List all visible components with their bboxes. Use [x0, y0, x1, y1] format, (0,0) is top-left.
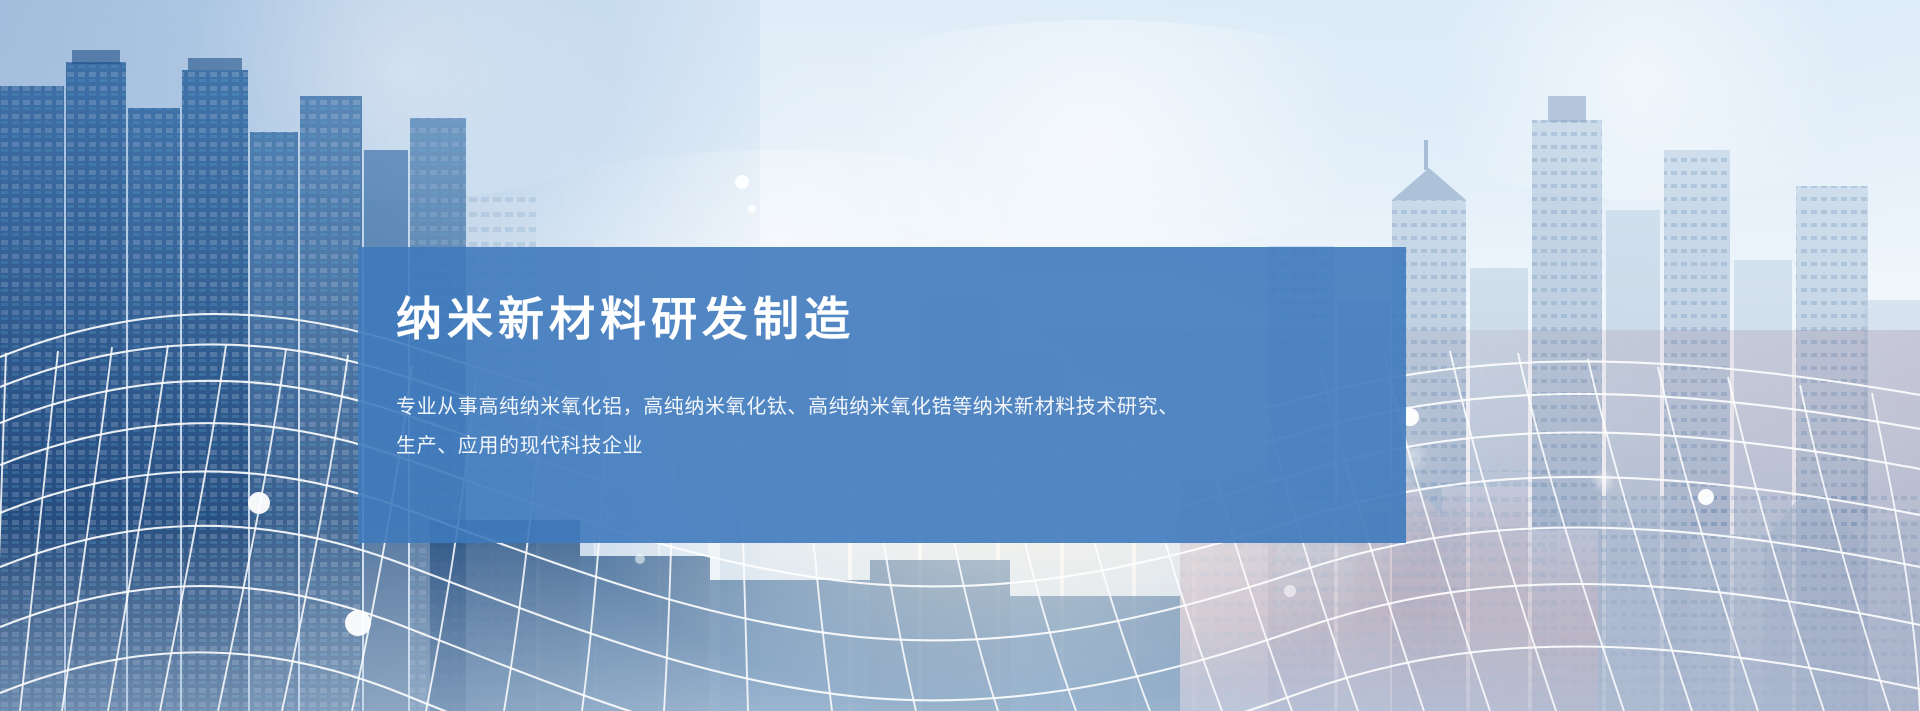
- hero-banner: 纳米新材料研发制造 专业从事高纯纳米氧化铝，高纯纳米氧化钛、高纯纳米氧化锆等纳米…: [0, 0, 1920, 711]
- hero-text-panel: 纳米新材料研发制造 专业从事高纯纳米氧化铝，高纯纳米氧化钛、高纯纳米氧化锆等纳米…: [358, 247, 1406, 543]
- hero-subtitle-line-1: 专业从事高纯纳米氧化铝，高纯纳米氧化钛、高纯纳米氧化锆等纳米新材料技术研究、: [396, 388, 1196, 427]
- page-title: 纳米新材料研发制造: [396, 293, 1406, 346]
- hero-subtitle-line-2: 生产、应用的现代科技企业: [396, 427, 1196, 466]
- hero-subtitle: 专业从事高纯纳米氧化铝，高纯纳米氧化钛、高纯纳米氧化锆等纳米新材料技术研究、 生…: [396, 346, 1196, 466]
